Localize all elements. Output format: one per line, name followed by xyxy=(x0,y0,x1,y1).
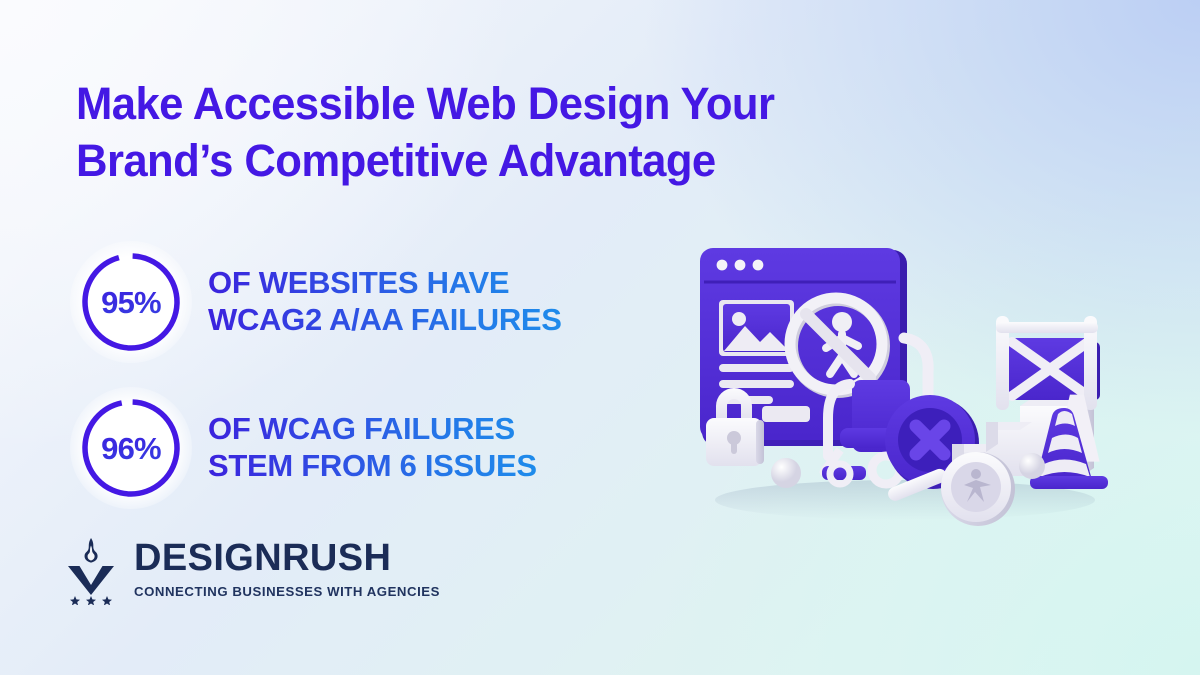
torch-flame-chevron-icon xyxy=(62,533,120,605)
stat-item: 95% OF WEBSITES HAVE WCAG2 A/AA FAILURES xyxy=(76,238,686,366)
accessibility-illustration xyxy=(690,238,1120,528)
logo-mark-svg xyxy=(62,533,120,605)
infographic-canvas: Make Accessible Web Design Your Brand’s … xyxy=(0,0,1200,675)
window-dots-icon xyxy=(717,260,764,271)
button-block-icon xyxy=(762,406,810,422)
stat-percent: 96% xyxy=(76,394,186,504)
stat-line-2: WCAG2 A/AA FAILURES xyxy=(208,302,562,339)
logo-tagline: CONNECTING BUSINESSES WITH AGENCIES xyxy=(134,584,440,599)
x-barrier-fence-icon xyxy=(996,316,1100,410)
brand-logo: DESIGNRUSH CONNECTING BUSINESSES WITH AG… xyxy=(62,533,440,605)
image-placeholder-icon xyxy=(719,300,794,356)
stat-description: OF WCAG FAILURES STEM FROM 6 ISSUES xyxy=(208,411,537,484)
logo-wordmark: DESIGNRUSH xyxy=(134,539,440,577)
statistics-list: 95% OF WEBSITES HAVE WCAG2 A/AA FAILURES… xyxy=(76,238,686,512)
sphere-icon xyxy=(771,458,801,488)
page-title: Make Accessible Web Design Your Brand’s … xyxy=(76,76,976,189)
stat-line-1: OF WEBSITES HAVE xyxy=(208,265,562,302)
logo-text-block: DESIGNRUSH CONNECTING BUSINESSES WITH AG… xyxy=(134,539,440,599)
headline-line-2: Brand’s Competitive Advantage xyxy=(76,133,949,190)
three-stars-icon xyxy=(70,596,112,605)
stat-description: OF WEBSITES HAVE WCAG2 A/AA FAILURES xyxy=(208,265,562,338)
stat-item: 96% OF WCAG FAILURES STEM FROM 6 ISSUES xyxy=(76,384,686,512)
illustration-svg xyxy=(690,238,1120,528)
stat-percent: 95% xyxy=(76,248,186,358)
progress-ring-95: 95% xyxy=(76,247,186,357)
headline-line-1: Make Accessible Web Design Your xyxy=(76,76,949,133)
stat-line-2: STEM FROM 6 ISSUES xyxy=(208,448,537,485)
progress-ring-96: 96% xyxy=(76,393,186,503)
stat-line-1: OF WCAG FAILURES xyxy=(208,411,537,448)
